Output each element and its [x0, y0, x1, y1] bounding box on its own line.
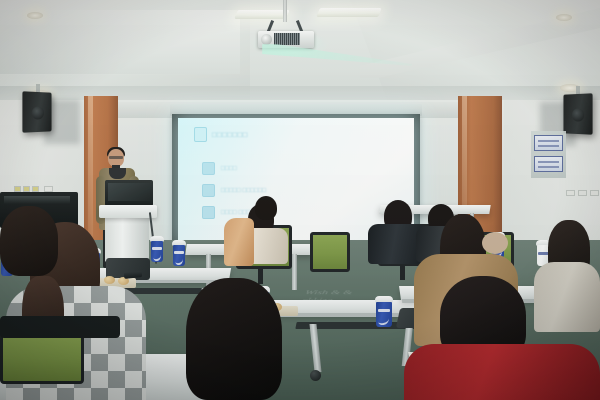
chair-frame [0, 316, 120, 338]
slide-title-text: □□□□□□□ [212, 130, 248, 139]
sign-text-line [538, 166, 559, 168]
sign-text-line [538, 145, 559, 147]
lectern-body [105, 214, 149, 262]
slide-heading: □□□□□□□ [194, 127, 248, 142]
bullet-text: □□□□□ □□□□□□ [221, 187, 266, 194]
hair-tie [482, 232, 508, 254]
chair-post [400, 265, 405, 280]
strip-light-icon [234, 10, 290, 19]
outlet-socket-icon [15, 187, 20, 191]
outlet-socket-icon [24, 187, 29, 191]
speaker-cone-icon [31, 106, 43, 119]
cup-body [173, 245, 185, 266]
cup-swoosh-icon [152, 250, 162, 261]
cup-body [151, 241, 163, 262]
strip-light-icon [316, 8, 382, 17]
presenter-collar [109, 168, 126, 179]
notice-sign-upper [534, 135, 563, 151]
bullet-icon [202, 184, 215, 197]
chair-post [258, 268, 263, 284]
attendee-dark-hair-left [0, 206, 58, 276]
slide-badge-icon [194, 127, 207, 142]
cup-body [376, 302, 392, 327]
cup-logo [174, 251, 184, 254]
pastry [104, 276, 115, 284]
downlight-icon [27, 12, 43, 19]
soffit-band-left [0, 10, 240, 74]
wall-speaker-right [563, 93, 592, 134]
notice-sign-lower [534, 156, 563, 172]
coffee-cup [150, 236, 164, 262]
chair [310, 232, 350, 272]
cup-logo [378, 309, 391, 312]
projector-lens-icon [261, 34, 272, 45]
slide-bullet: □□□□□ □□□□□□ [202, 184, 266, 197]
slide-bullet: □□□□ [202, 162, 237, 175]
cup-logo [152, 247, 162, 250]
projector-vent [274, 33, 300, 45]
monitor-glare [4, 196, 70, 204]
coffee-cup [375, 296, 393, 327]
wall-outlet [578, 190, 587, 196]
attendee-head [255, 196, 277, 220]
attendee-light-coat [534, 262, 600, 332]
attendee-peach-coat [224, 218, 254, 266]
bullet-icon [202, 206, 215, 219]
coffee-cup [172, 240, 186, 266]
wall-speaker-left [22, 91, 51, 132]
table-caster [310, 370, 321, 381]
attendee-foreground-hair [186, 278, 282, 400]
wall-outlet [590, 190, 599, 196]
table-leg [292, 254, 297, 290]
cup-swoosh-icon [174, 254, 184, 265]
cup-swoosh-icon [378, 314, 390, 325]
attendee-red-jacket [404, 344, 600, 400]
classroom-photo: □□□□□□□ □□□□ □□□□□ □□□□□□ □□□□ □□□ □□□ □… [0, 0, 600, 400]
downlight-icon [556, 14, 572, 21]
sign-text-line [538, 140, 559, 142]
bullet-icon [202, 162, 215, 175]
bullet-text: □□□□ [221, 165, 237, 172]
speaker-cone-icon [571, 108, 583, 121]
wall-outlet [566, 190, 575, 196]
laptop-screen [108, 183, 150, 201]
presenter-glasses-icon [109, 156, 123, 159]
sign-text-line [538, 161, 559, 163]
projector-pole [283, 0, 287, 22]
outlet-socket-icon [33, 187, 38, 191]
